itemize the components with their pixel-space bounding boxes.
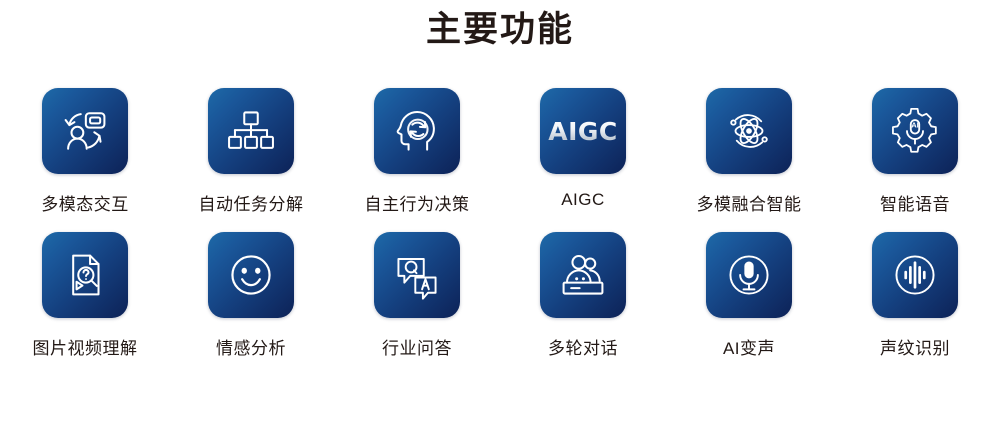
feature-item-sentiment-analysis[interactable]: 情感分析: [168, 232, 334, 359]
feature-item-multi-turn-dialogue[interactable]: 多轮对话: [500, 232, 666, 359]
feature-item-multimodal-fusion[interactable]: 多模融合智能: [666, 88, 832, 215]
feature-tile[interactable]: [42, 232, 128, 318]
feature-tile[interactable]: [42, 88, 128, 174]
feature-label: AIGC: [561, 190, 605, 210]
atom-fusion-icon: [722, 104, 776, 158]
head-refresh-decision-icon: [390, 104, 444, 158]
feature-label: AI变声: [723, 334, 775, 359]
document-magnifier-question-icon: [58, 248, 112, 302]
feature-label: 多轮对话: [548, 334, 618, 359]
feature-item-multimodal-interaction[interactable]: 多模态交互: [2, 88, 168, 215]
multimodal-interaction-icon: [58, 104, 112, 158]
feature-tile[interactable]: [706, 232, 792, 318]
feature-grid: 多模态交互 自动任务分解: [0, 88, 1000, 359]
feature-label: 自动任务分解: [199, 190, 304, 215]
feature-item-image-video-understanding[interactable]: 图片视频理解: [2, 232, 168, 359]
smiley-face-icon: [224, 248, 278, 302]
page-title: 主要功能: [0, 0, 1000, 58]
aigc-text-icon: AIGC: [548, 117, 618, 146]
feature-label: 图片视频理解: [33, 334, 138, 359]
feature-row: 图片视频理解 情感分析: [0, 232, 1000, 359]
feature-item-industry-qa[interactable]: 行业问答: [334, 232, 500, 359]
feature-item-ai-voice-change[interactable]: AI变声: [666, 232, 832, 359]
feature-tile[interactable]: [706, 88, 792, 174]
feature-item-aigc[interactable]: AIGC AIGC: [500, 88, 666, 210]
feature-tile[interactable]: [540, 232, 626, 318]
feature-label: 多模态交互: [41, 190, 129, 215]
feature-item-voiceprint-recognition[interactable]: 声纹识别: [832, 232, 998, 359]
task-decomposition-tree-icon: [224, 104, 278, 158]
microphone-circle-icon: [722, 248, 776, 302]
gear-mic-ai-label: AI: [911, 121, 919, 130]
main-page: 主要功能 多模态交互: [0, 0, 1000, 447]
feature-tile[interactable]: [872, 232, 958, 318]
feature-label: 行业问答: [382, 334, 452, 359]
feature-row: 多模态交互 自动任务分解: [0, 88, 1000, 215]
feature-tile[interactable]: [374, 88, 460, 174]
feature-tile[interactable]: [208, 88, 294, 174]
feature-item-task-decomposition[interactable]: 自动任务分解: [168, 88, 334, 215]
feature-item-autonomous-decision[interactable]: 自主行为决策: [334, 88, 500, 215]
voiceprint-waveform-icon: [888, 248, 942, 302]
feature-tile[interactable]: AIGC: [540, 88, 626, 174]
feature-tile[interactable]: [374, 232, 460, 318]
two-people-panel-icon: [556, 248, 610, 302]
qa-chat-bubbles-icon: [390, 248, 444, 302]
feature-tile[interactable]: AI: [872, 88, 958, 174]
gear-microphone-ai-icon: AI: [888, 104, 942, 158]
feature-tile[interactable]: [208, 232, 294, 318]
feature-label: 多模融合智能: [697, 190, 802, 215]
feature-label: 情感分析: [216, 334, 286, 359]
feature-label: 自主行为决策: [365, 190, 470, 215]
feature-label: 智能语音: [880, 190, 950, 215]
feature-item-intelligent-voice[interactable]: AI 智能语音: [832, 88, 998, 215]
feature-label: 声纹识别: [880, 334, 950, 359]
